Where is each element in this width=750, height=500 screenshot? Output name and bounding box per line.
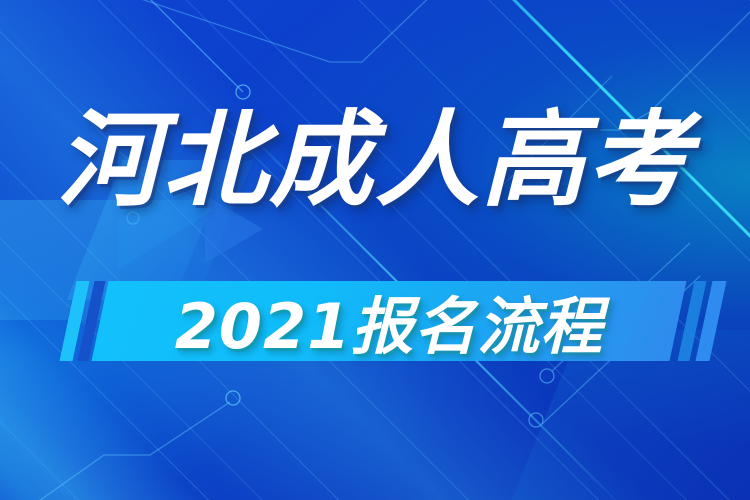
promotional-banner: 河北成人高考 2021报名流程 — [0, 0, 750, 500]
circuit-lines-decoration — [0, 0, 750, 500]
subtitle-ribbon: 2021报名流程 — [0, 278, 750, 364]
page-title: 河北成人高考 — [0, 104, 750, 216]
subtitle-text: 2021报名流程 — [100, 281, 678, 361]
